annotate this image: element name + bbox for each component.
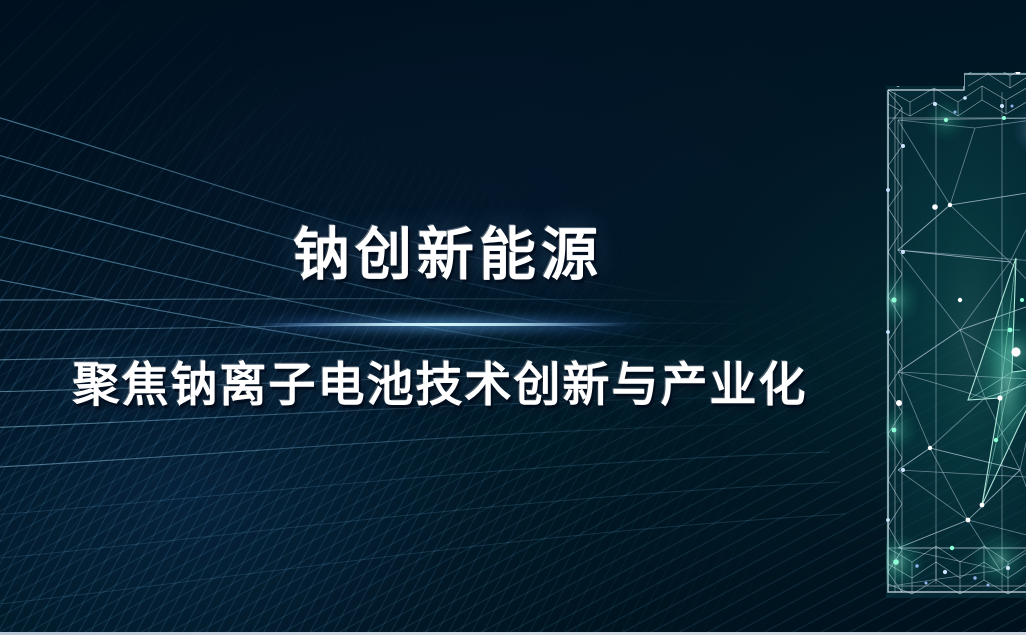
title-divider (261, 317, 629, 333)
divider-core (261, 323, 629, 326)
battery-wireframe (826, 0, 1026, 635)
banner-root: 钠创新能源 聚焦钠离子电池技术创新与产业化 (0, 0, 1026, 635)
banner-content: 钠创新能源 聚焦钠离子电池技术创新与产业化 (0, 0, 880, 635)
page-title: 钠创新能源 (293, 224, 603, 287)
page-subtitle: 聚焦钠离子电池技术创新与产业化 (73, 359, 808, 412)
